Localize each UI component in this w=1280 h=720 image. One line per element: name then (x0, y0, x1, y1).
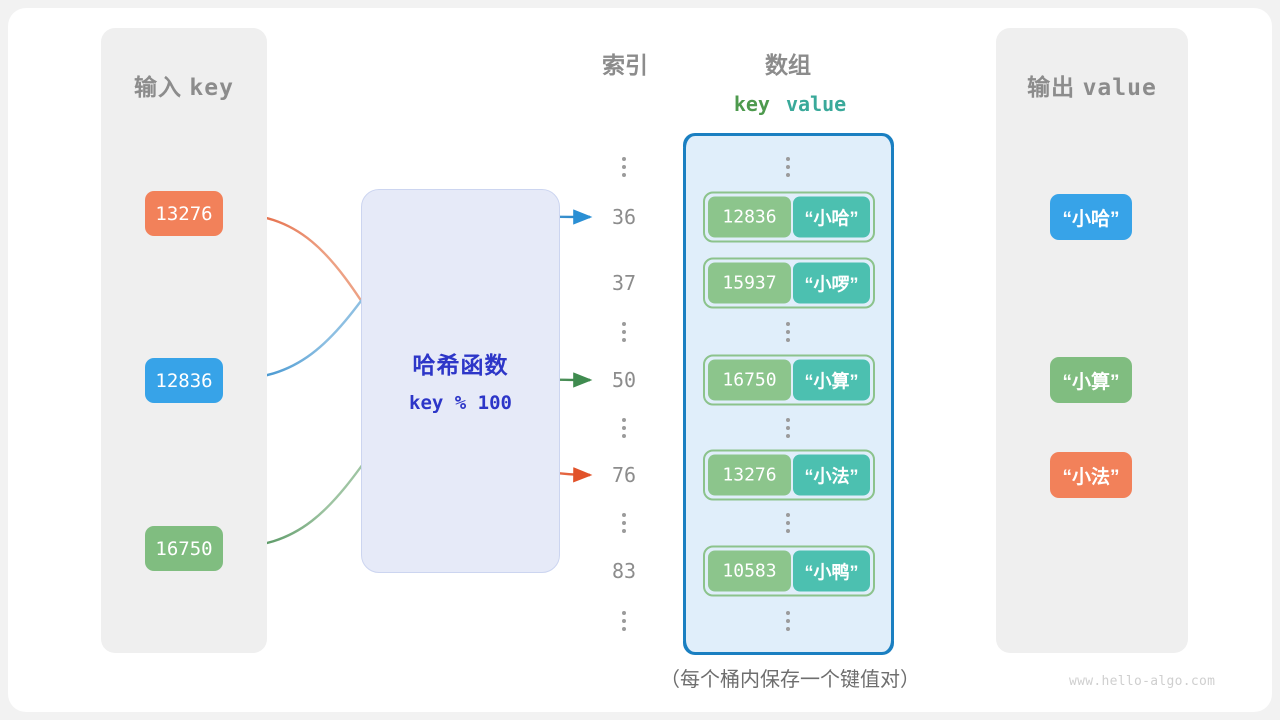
array-bucket-37[interactable]: 15937 “小啰” (703, 258, 875, 309)
output-value-pill-xiaoha[interactable]: “小哈” (1050, 194, 1132, 240)
input-panel-title-cn: 输入 (134, 74, 182, 100)
bucket-key: 16750 (708, 360, 791, 401)
output-value-pill-xiaosuan[interactable]: “小算” (1050, 357, 1132, 403)
index-label-83: 83 (596, 559, 652, 583)
output-panel-title-cn: 输出 (1027, 74, 1075, 100)
input-key-pill-13276[interactable]: 13276 (145, 191, 223, 236)
array-subheader: keyvalue (690, 92, 890, 116)
input-key-pill-16750[interactable]: 16750 (145, 526, 223, 571)
bucket-value: “小啰” (793, 263, 870, 304)
index-ellipsis-2 (614, 418, 634, 438)
output-value-pill-xiaofa[interactable]: “小法” (1050, 452, 1132, 498)
bucket-value: “小鸭” (793, 551, 870, 592)
index-ellipsis-4 (614, 611, 634, 631)
array-ellipsis-2 (778, 418, 798, 438)
index-ellipsis-3 (614, 513, 634, 533)
bucket-value: “小算” (793, 360, 870, 401)
index-label-50: 50 (596, 368, 652, 392)
hash-function-box (361, 189, 560, 573)
array-column-header: 数组 (715, 46, 861, 80)
input-panel-title-mono: key (189, 75, 234, 101)
hash-function-formula: key % 100 (361, 392, 560, 414)
array-bucket-50[interactable]: 16750 “小算” (703, 355, 875, 406)
bucket-key: 15937 (708, 263, 791, 304)
array-bucket-76[interactable]: 13276 “小法” (703, 450, 875, 501)
bucket-key: 12836 (708, 197, 791, 238)
array-bucket-83[interactable]: 10583 “小鸭” (703, 546, 875, 597)
array-ellipsis-0 (778, 157, 798, 177)
bucket-key: 10583 (708, 551, 791, 592)
array-bucket-36[interactable]: 12836 “小哈” (703, 192, 875, 243)
input-panel-title: 输入 key (101, 68, 267, 102)
array-subheader-value: value (786, 92, 846, 116)
output-panel-title: 输出 value (996, 68, 1188, 102)
index-label-36: 36 (596, 205, 652, 229)
array-ellipsis-1 (778, 322, 798, 342)
diagram-canvas: 输入 key 13276 12836 16750 哈希函数 key % 100 … (0, 0, 1280, 720)
index-column-header: 索引 (575, 46, 675, 80)
output-value-panel: 输出 value (996, 28, 1188, 653)
bucket-value: “小法” (793, 455, 870, 496)
diagram-caption: （每个桶内保存一个键值对） (620, 663, 960, 692)
index-label-76: 76 (596, 463, 652, 487)
array-ellipsis-4 (778, 611, 798, 631)
index-ellipsis-0 (614, 157, 634, 177)
array-ellipsis-3 (778, 513, 798, 533)
hash-function-label: 哈希函数 (361, 346, 560, 380)
input-key-pill-12836[interactable]: 12836 (145, 358, 223, 403)
index-label-37: 37 (596, 271, 652, 295)
bucket-value: “小哈” (793, 197, 870, 238)
output-panel-title-mono: value (1083, 75, 1157, 101)
watermark: www.hello-algo.com (1069, 674, 1215, 689)
array-subheader-key: key (734, 92, 770, 116)
index-ellipsis-1 (614, 322, 634, 342)
bucket-key: 13276 (708, 455, 791, 496)
